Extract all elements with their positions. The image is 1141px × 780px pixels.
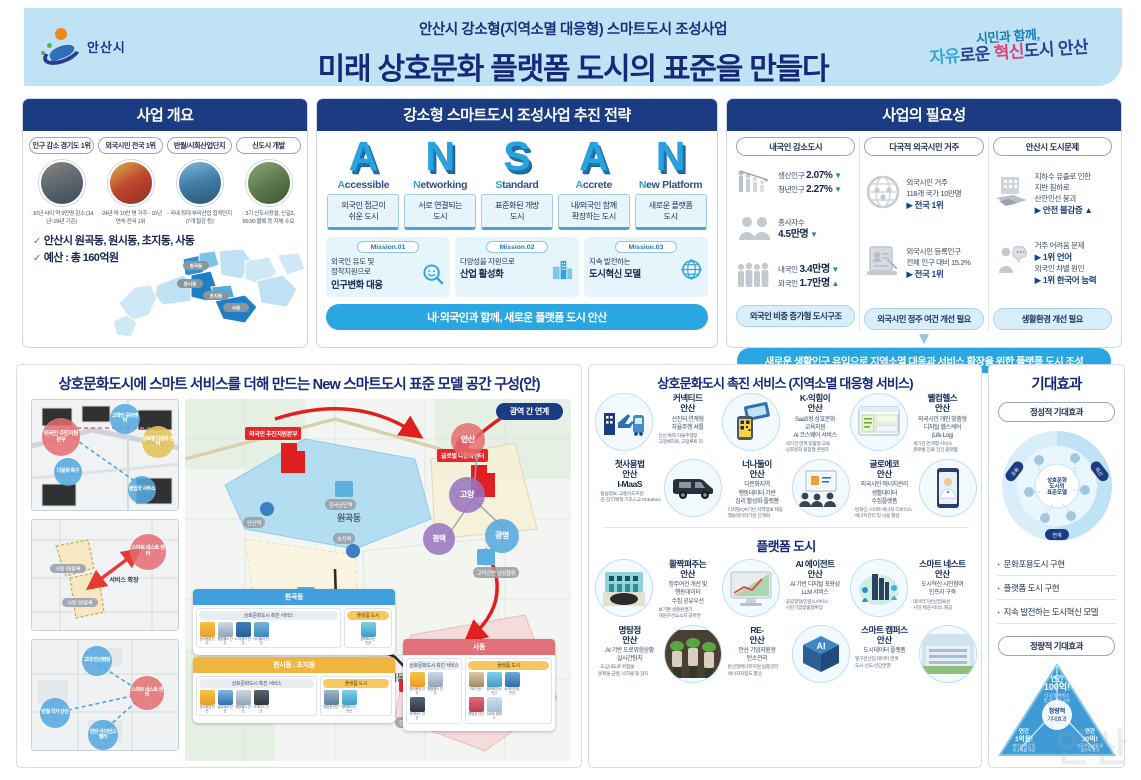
platform-text: 스마트 네스트 안산 도시혁신 시민참여 인프라 구축 · 데이터기반산업육성 … [908,559,977,613]
transit-hub-icon [595,393,653,451]
qualitative-pill: 정성적 기대효과 [998,402,1115,422]
registration-doc-icon [864,244,902,283]
acronym-letter: N [635,137,707,176]
service-desc: SaaS형 상호문화 교육지원 AI 코스웨어 서비스 [783,416,846,440]
necessity-conclusion-pill: 외국인 비중 증가형 도시구조 [736,305,855,327]
inset-bubble: 고대 안산병원 [82,646,112,676]
platform-text: AI 에이전트 안산 AI 기반 디지털 포용성 LLM 서비스 · 공공행정/… [780,559,849,613]
mission-card-03: Mission.03 지속 발전하는 도시혁신 모델 [584,237,708,297]
monitor-chart-icon [722,559,780,617]
map-label: 원곡동 [190,262,203,269]
effect-item: 지속 발전하는 도시혁신 모델 [997,600,1116,624]
service-bullets: · 안산 특화 자율주행망 · 고정배차로, 고정루트 외 [656,434,719,447]
necessity-stat-text: 거주 어려움 문제 ▶ 1위 언어 외국인 차별 원인 ▶ 1위 한국어 능력 [1035,240,1097,287]
panel-necessity: 사업의 필요성 내국인 감소도시 [726,98,1122,348]
acronym-word: Accessible [327,179,399,191]
mission-text: 외국인 유도 및 정착지원으로 인구변화 대응 [331,257,383,291]
acronym-item-a2: A Accrete 내/외국인 함께 확장하는 도시 [558,137,630,230]
service-icon-cell: 웰컴헬스 안산 [427,672,443,695]
platform-desc: 도시혁신 시민참여 인프라 구축 [911,581,974,597]
effects-title: 기대효과 [989,365,1124,400]
necessity-stat-text: 외국시민 거주 118개 국가 10만명 ▶ 전국 1위 [906,177,961,211]
service-icon-cell: 웰컴헬스 안산 [217,622,233,645]
mission-text: 지속 발전하는 도시혁신 모델 [589,257,641,281]
inset-bubble: 외국인 주민지원 본부 [42,418,80,456]
map-label: 원시동 [184,280,197,287]
service-text: 글로에코 안산 외국시민 에너지관리 생활데이터 수집플랫폼 · 탄화인·스마트… [850,459,919,521]
service-text: 커넥티드 안산 선진의 연계형 자율주행 셔틀 · 안산 특화 자율주행망 · … [653,393,722,447]
svg-text:표준모델: 표준모델 [1047,488,1067,496]
inset-map-banwol: 고대 안산병원 스마트 네스트 센터 반월 국가 산단 한단 사이언스 밸리 [31,639,179,751]
overview-caption: · 24년 약 10만 명 거주 · 10년 연속 전국 1위 [98,210,163,226]
ansan-district-map: 원곡동 원시동 초지동 사동 [111,245,307,345]
district-name: 사동 [403,639,555,655]
inset-bubble: 스마트 네스트 센터 [130,534,166,570]
platform-desc: AI 기반 디지털 포용성 LLM 서비스 [783,581,846,597]
inset-bubble: 다문화 특구 [54,458,82,486]
regional-link-pill: 광역 간 연계 [496,403,563,420]
street-photo [39,160,85,206]
acronym-letter: A [558,137,630,176]
platform-bullets: · 데이터기반산업육성 · 시민 체감서비스 제공 [911,600,974,613]
platform-icon-cell: 활짝펴주는 안산 [360,622,376,645]
ansan-acronym-row: A Accessible 외국인 접근이 쉬운 도시 N Networking … [317,131,717,230]
acronym-word: New Platform [635,179,707,191]
necessity-stat-row: 거주 어려움 문제 ▶ 1위 언어 외국인 차별 원인 ▶ 1위 한국어 능력 [993,232,1112,294]
panel-strategy: 강소형 스마트도시 조성사업 추진 전략 A Accessible 외국인 접근… [316,98,718,348]
necessity-columns: 내국인 감소도시 생산인구 2.07% ▼ 청년인구 2.27% [727,131,1121,330]
platform-text: RE- 안산 안산 기업지원형 탄소관리 · 분산형에너지지원 실증관리 · 에… [722,625,791,679]
industrial-complex-photo [177,160,223,206]
svg-text:신규기업 창출 및: 신규기업 창출 및 [1076,743,1103,748]
svg-text:100억!: 100억! [1043,681,1069,692]
facility-label: 한국공단역 [325,499,356,510]
two-people-icon [736,214,774,247]
mission-text: 다양성을 자원으로 산업 활성화 [460,257,514,281]
necessity-col-head: 내국인 감소도시 [736,137,855,156]
mission-lead: 지속 발전하는 [589,257,630,266]
digital-twin-icon [850,559,908,617]
platform-desc: AI 기반 도로위험상황 실시간탐지 [598,647,661,663]
platform-bullets: · 열구관산업 데이터 연계 · 도시-산도-산단연결 [853,657,916,670]
necessity-stat-text: 생산인구 2.07% ▼ 청년인구 2.27% ▼ [778,169,842,198]
district-card-sadong: 사동 상호문화도시 촉진 서비스 첫사용법 안산 웰컴헬스 안산 커넥티드 안산 [403,639,555,731]
overview-photo-cell: · 국내 최대 부리산업 집적단지(7개 철강 등) [167,160,232,226]
service-bullets: · 탑승정보, 교통카드지원 · 원·검 다목적 기초스교 Globalium [598,492,661,505]
overview-caption: · 3기 신도시장설, 신길2, 89,90 블록 등 지체 수요 [236,210,301,226]
necessity-stat-row: 생산인구 2.07% ▼ 청년인구 2.27% ▼ [736,163,855,203]
overview-photo-cell: · 10년 사이 약 9만명 감소 (14년~24년 기준) [29,160,94,226]
platform-icon-cell: 명탐정 안산 [468,697,484,720]
service-desc: 다문화지역 행동데이터 기반 심리 활성화 플랫폼 [725,481,788,505]
building-sinkhole-icon [993,174,1031,215]
map-label: 사동 [232,304,241,311]
globe-people-icon [864,173,902,216]
necessity-col-head: 다국적 외국시민 거주 [864,137,983,156]
district-name: 원시동 , 초지동 [193,657,395,673]
wheel-label: 연계 [1052,532,1062,539]
region-node-pyeongtaek: 평택 [423,523,455,555]
service-icon-cell: 첫사용법 안산 [199,622,215,645]
region-node-goyang: 고양 [449,477,485,513]
service-bullets: · 세기관 연계 맞춤형 교육 · 상호문화 융합형 콘텐츠 [783,442,846,455]
svg-text:상호문화: 상호문화 [1047,476,1067,484]
service-name: 글로에코 안산 [853,459,916,480]
service-name: 웰컴헬스 안산 [911,393,974,414]
acronym-item-n1: N Networking 서로 연결되는 도시 [404,137,476,230]
service-name: 너나둘이 안산 [725,459,788,480]
panel-expected-effects: 기대효과 정성적 기대효과 상호문화 도시의 표준모델 포용 혁신 [988,364,1125,768]
acronym-desc: 내/외국인 함께 확장하는 도시 [558,194,630,230]
necessity-stat-row: 지하수 유출로 인한 지반 침하로 산안인선 붕괴 ▶ 안전 불감증 ▲ [993,163,1112,225]
service-desc: 외국시민 개인 맞춤형 디지털 헬스케어 (Life Log) [911,416,974,440]
acronym-word: Standard [481,179,553,191]
red-marker-label: 외국인 추진지원본부 [245,427,301,440]
inset-bubble: 스마트 네스트 센터 [130,676,164,710]
warning-rank: ▶ 안전 불감증 ▲ [1035,204,1093,216]
acronym-desc: 서로 연결되는 도시 [404,194,476,230]
service-icon-cell: K-익힘이 안산 [235,622,251,645]
region-node-ansan: 안산 [451,423,485,457]
district-service-label: 상호문화도시 촉진 서비스 [199,611,338,620]
ai-cube-icon: AI [792,625,850,683]
mission-lead: 외국인 유도 및 정착지원으로 [331,257,374,276]
necessity-stat-text: 내국인 3.4만명 ▼ 외국인 1.7만명 ▲ [778,263,839,292]
mission-row: Mission.01 외국인 유도 및 정착지원으로 인구변화 대응 Missi [317,230,717,297]
acronym-word: Accrete [558,179,630,191]
region-node-gwangmyeong: 광명 [485,519,519,553]
mission-card-01: Mission.01 외국인 유도 및 정착지원으로 인구변화 대응 [326,237,450,297]
acronym-item-a1: A Accessible 외국인 접근이 쉬운 도시 [327,137,399,230]
down-arrow-icon: ▼ [727,332,1121,346]
necessity-col-foreign: 다국적 외국시민 거주 외국시민 거주 118개 국가 10만명 [859,137,987,330]
acronym-item-s: S Standard 표준화된 개방 도시 [481,137,553,230]
service-icon-cell: 웰컴헬스 안산 [235,690,251,713]
acronym-word: Networking [404,179,476,191]
platform-desc: 안산 기업지원형 탄소관리 [725,647,788,663]
service-icon-cell: 글로에코 안산 [217,690,233,713]
necessity-col-head: 안산시 도시문제 [993,137,1112,156]
service-icon-cell: 너나둘이 안산 [253,622,269,645]
necessity-conclusion-pill: 생활환경 개선 필요 [993,308,1112,330]
service-text: 웰컴헬스 안산 외국시민 개인 맞춤형 디지털 헬스케어 (Life Log) … [908,393,977,455]
district-platform-label: 플랫폼 도시 [323,679,389,688]
district-platform-label: 플랫폼 도시 [347,611,389,620]
service-name: 첫사용법 안산 I-MaaS [598,459,661,490]
platform-name: 활짝펴주는 안산 [656,559,719,580]
inset-bubble: 한단 사이언스 밸리 [88,720,118,750]
acronym-letter: N [404,137,476,176]
service-bullets: · 탄화인·스마트 에너지 디바이스 · 에너지관리 및 사용 절감 [853,508,916,521]
inset-map-wongok: 고학인 문화센터 외국인 주민지원 본부 다문화 특구 글로벌 다문화 센터 출… [31,399,179,511]
panel-project-overview: 사업 개요 인구 감소 경기도 1위 외국시민 전국 1위 반월/시화산업단지 … [22,98,308,348]
svg-text:기대효과: 기대효과 [1047,715,1067,723]
strategy-title: 강소형 스마트도시 조성사업 추진 전략 [317,99,717,131]
platform-icon-cell: 활짝펴주는 안산 [341,690,357,713]
service-text: K-익힘이 안산 SaaS형 상호문화 교육지원 AI 코스웨어 서비스 · 세… [780,393,849,455]
district-card-wonsi-choji: 원시동 , 초지동 상호문화도시 촉진 서비스 첫사용법 안산 글로에코 안산 … [193,657,395,723]
mission-bold: 도시혁신 모델 [589,268,641,281]
acronym-desc: 외국인 접근이 쉬운 도시 [327,194,399,230]
necessity-stat-text: 외국시민 등록인구 전체 인구 대비 15.2% ▶ 전국 1위 [906,246,970,280]
svg-text:탄소배출 저감: 탄소배출 저감 [1012,748,1035,753]
platform-text: 활짝펴주는 안산 정주여건 개선 및 행동데이터 수집 공유우선 · 보기편 생… [653,559,722,621]
mission-bold: 인구변화 대응 [331,279,383,292]
district-service-label: 상호문화도시 촉진 서비스 [409,661,459,670]
inset-bubble: 반월 국가 산단 [40,698,70,728]
overview-photo-row: · 10년 사이 약 9만명 감소 (14년~24년 기준) · 24년 약 1… [23,154,307,226]
workers-icon [664,625,722,683]
zone-label: 사동 88블록 [55,566,81,573]
overview-chip: 반월/시화산업단지 [167,137,232,154]
new-town-photo [246,160,292,206]
necessity-stat-text: 종사자수 4.5만명 ▼ [778,217,818,243]
necessity-stat-row: 종사자수 4.5만명 ▼ [736,210,855,250]
zone-label: 사동 90블록 [67,600,93,607]
inset-bubble: 글로벌 다문화 센터 [142,426,174,458]
panel-services: 상호문화도시 촉진 서비스 (지역소멸 대응형 서비스) 커넥티드 안산 선진의 [588,364,982,768]
service-icon-cell: 첫사용법 안산 [199,690,215,713]
quantitative-pill: 정량적 기대효과 [998,636,1115,656]
necessity-stat-row: 외국시민 등록인구 전체 인구 대비 15.2% ▶ 전국 1위 [864,232,983,294]
necessity-col-domestic: 내국인 감소도시 생산인구 2.07% ▼ 청년인구 2.27% [732,137,859,330]
main-space-map: 광역 간 연계 외국인 추진지원본부 글로벌 다문화센터 스마트 네스트 센터 … [185,399,571,761]
platform-icon-cell: AI 에이전트 안산 [504,672,520,695]
service-row-2: 첫사용법 안산 I-MaaS · 탑승정보, 교통카드지원 · 원·검 다목적 … [589,457,983,523]
service-icon-cell: 첫사용법 안산 [409,672,425,695]
overview-chip-row: 인구 감소 경기도 1위 외국시민 전국 1위 반월/시화산업단지 신도시 개발 [23,131,307,154]
station-label: 초지역 [333,533,355,544]
space-map-area: 고학인 문화센터 외국인 주민지원 본부 다문화 특구 글로벌 다문화 센터 출… [25,397,575,763]
market-photo [108,160,154,206]
necessity-title: 사업의 필요성 [727,99,1121,131]
service-desc: 외국시민 에너지관리 생활데이터 수집플랫폼 [853,481,916,505]
service-icon-cell: 커넥티드 안산 [409,697,425,720]
overview-caption: · 국내 최대 부리산업 집적단지(7개 철강 등) [167,210,232,226]
platform-icon-cell: 활짝펴주는 안산 [486,672,502,695]
overview-chip: 외국시민 전국 1위 [98,137,163,154]
svg-text:연간: 연간 [1019,727,1029,735]
mission-lead: 다양성을 자원으로 [460,257,514,266]
service-name: 커넥티드 안산 [656,393,719,414]
platform-row-2: 명탐정 안산 AI 기반 도로위험상황 실시간탐지 · 도심내도로 위험물 문제… [589,623,983,685]
necessity-col-urban: 안산시 도시문제 지하수 유출로 인한 지반 침하로 [988,137,1116,330]
service-icon-cell: 커넥티드 안산 [253,690,269,713]
mission-bold: 산업 활성화 [460,268,514,281]
service-text: 너나둘이 안산 다문화지역 행동데이터 기반 심리 활성화 플랫폼 · 디지털/… [722,459,791,521]
buildings-icon [551,258,574,281]
platform-bullets: · 공공행정/민원스서비스 · 시민기업맞춤형확장 [783,600,846,613]
mission-tag: Mission.01 [357,241,419,253]
svg-text:도시의: 도시의 [1049,482,1064,490]
platform-name: RE- 안산 [725,625,788,646]
overview-caption: · 10년 사이 약 9만명 감소 (14년~24년 기준) [29,210,94,226]
necessity-stat-row: 내국인 3.4만명 ▼ 외국인 1.7만명 ▲ [736,257,855,297]
district-name: 원곡동 [193,589,395,605]
platform-icon-cell: RE-안산 [468,672,484,695]
service-desc: 선진의 연계형 자율주행 셔틀 [656,416,719,432]
effects-wheel: 상호문화 도시의 표준모델 포용 혁신 연계 [1001,430,1113,542]
section-divider [603,527,969,528]
quantitative-triangle: 정량적 기대효과 연간 100억! 다국어 서비스 및 한국어 교육 연간 1억… [998,663,1116,759]
declining-population-icon [736,166,774,201]
svg-text:30억!: 30억! [1082,734,1098,743]
platform-name: AI 에이전트 안산 [783,559,846,580]
svg-text:에너지 절감 및: 에너지 절감 및 [1012,743,1036,748]
inset-bubble: 출입국 사무소 [128,476,156,504]
platform-text: 명탐정 안산 AI 기반 도로위험상황 실시간탐지 · 도심내도로 위험물 문제… [595,625,664,679]
overview-title: 사업 개요 [23,99,307,131]
platform-name: 스마트 네스트 안산 [911,559,974,580]
acronym-desc: 새로운 플랫폼 도시 [635,194,707,230]
mission-card-02: Mission.02 다양성을 자원으로 산업 활성화 [455,237,579,297]
svg-text:AI: AI [816,641,825,651]
overview-photo-cell: · 24년 약 10만 명 거주 · 10년 연속 전국 1위 [98,160,163,226]
overview-photo-cell: · 3기 신도시장설, 신길2, 89,90 블록 등 지체 수요 [236,160,301,226]
platform-text: 스마트 캠퍼스 안산 도시데이터 플랫폼 · 열구관산업 데이터 연계 · 도시… [850,625,919,671]
panel-space-plan: 상호문화도시에 스마트 서비스를 더해 만드는 New 스마트도시 표준 모델 … [16,364,582,768]
campus-building-icon [919,625,977,683]
map-label: 초지동 [210,292,223,299]
platform-bullets: · 보기편 생활환경기 · 재원구성요소지 공유면 [656,608,719,621]
space-plan-title: 상호문화도시에 스마트 서비스를 더해 만드는 New 스마트도시 표준 모델 … [17,365,581,400]
platform-name: 명탐정 안산 [598,625,661,646]
effect-item: 플랫폼 도시 구현 [997,576,1116,600]
effect-item: 문화포용도시 구현 [997,552,1116,576]
poster-header: 안산시 안산시 강소형(지역소멸 대응형) 스마트도시 조성사업 미래 상호문화… [24,8,1122,86]
health-dashboard-icon [850,393,908,451]
service-text: 첫사용법 안산 I-MaaS · 탑승정보, 교통카드지원 · 원·검 다목적 … [595,459,664,505]
district-service-label: 상호문화도시 촉진 서비스 [199,679,314,688]
platform-desc: 정주여건 개선 및 행동데이터 수집 공유우선 [656,581,719,605]
platform-row-1: 활짝펴주는 안산 정주여건 개선 및 행동데이터 수집 공유우선 · 보기편 생… [589,557,983,623]
platform-bullets: · 분산형에너지지원 실증관리 · 에너지자립도 향상 [725,665,788,678]
platform-city-title: 플랫폼 도시 [589,532,983,557]
service-row-1: 커넥티드 안산 선진의 연계형 자율주행 셔틀 · 안산 특화 자율주행망 · … [589,391,983,457]
station-label: 안산역 [243,517,265,528]
globe-network-icon [680,258,703,281]
overview-chip: 신도시 개발 [236,137,301,154]
acronym-letter: S [481,137,553,176]
service-name: K-익힘이 안산 [783,393,846,414]
mission-tag: Mission.02 [486,241,548,253]
svg-text:1억원!: 1억원! [1015,734,1033,743]
effects-list: 문화포용도시 구현 플랫폼 도시 구현 지속 발전하는 도시혁신 모델 [989,542,1124,624]
services-body: 커넥티드 안산 선진의 연계형 자율주행 셔틀 · 안산 특화 자율주행망 · … [589,391,983,685]
mission-tag: Mission.03 [615,241,677,253]
classroom-icon [792,459,850,517]
expansion-label: 서비스 확장 [109,576,139,584]
magnifier-face-icon [422,263,445,286]
acronym-item-n2: N New Platform 새로운 플랫폼 도시 [635,137,707,230]
necessity-stat-text: 지하수 유출로 인한 지반 침하로 산안인선 붕괴 ▶ 안전 불감증 ▲ [1035,171,1093,216]
crowd-icon [736,260,774,295]
platform-icon-cell: 스마트 캠퍼스 [486,697,502,720]
platform-icon-cell: 명탐정 안산 [323,690,339,713]
svg-text:연간: 연간 [1085,727,1095,735]
overview-chip: 인구 감소 경기도 1위 [29,137,94,154]
platform-bullets: · 도심내도로 위험물 문제물,균열, 낙하물 등 감지 [598,665,661,678]
inset-bubble: 고학인 문화센터 [110,404,140,434]
acronym-letter: A [327,137,399,176]
svg-text:정량적: 정량적 [1048,707,1065,715]
svg-text:및 한국어 교육: 및 한국어 교육 [1043,697,1070,704]
platform-name: 스마트 캠퍼스 안산 [853,625,916,646]
svg-text:일자리 증가: 일자리 증가 [1080,748,1099,753]
service-bullets: · 디지털/QR기반 지역정보 제공 · 행동데이터기반 단계화 [725,508,788,521]
district-platform-label: 플랫폼 도시 [468,661,549,670]
service-bullets: · 세기관 연계형 서비스 · 글로벌 진료·건강 플랫폼 [911,442,974,455]
necessity-conclusion-pill: 외국시민 정주 여건 개선 필요 [864,308,983,330]
shuttle-van-icon [664,459,722,517]
strategy-banner: 내·외국인과 함께, 새로운 플랫폼 도시 안산 [326,304,708,330]
inset-map-sadong: 사동 88블록 사동 90블록 서비스 확장 스마트 네스트 센터 [31,519,179,631]
qr-phone-icon [722,393,780,451]
district-card-wongok: 원곡동 상호문화도시 촉진 서비스 첫사용법 안산 웰컴헬스 안산 K-익힘이 … [193,589,395,655]
language-barrier-icon [993,243,1031,284]
poster-root: 안산시 안산시 강소형(지역소멸 대응형) 스마트도시 조성사업 미래 상호문화… [0,0,1141,780]
sinkhole-icon [595,559,653,617]
doctor-phone-icon [919,459,977,517]
dong-label: 원곡동 [337,511,361,524]
platform-desc: 도시데이터 플랫폼 [853,647,916,655]
acronym-desc: 표준화된 개방 도시 [481,194,553,230]
necessity-stat-row: 외국시민 거주 118개 국가 10만명 ▶ 전국 1위 [864,163,983,225]
